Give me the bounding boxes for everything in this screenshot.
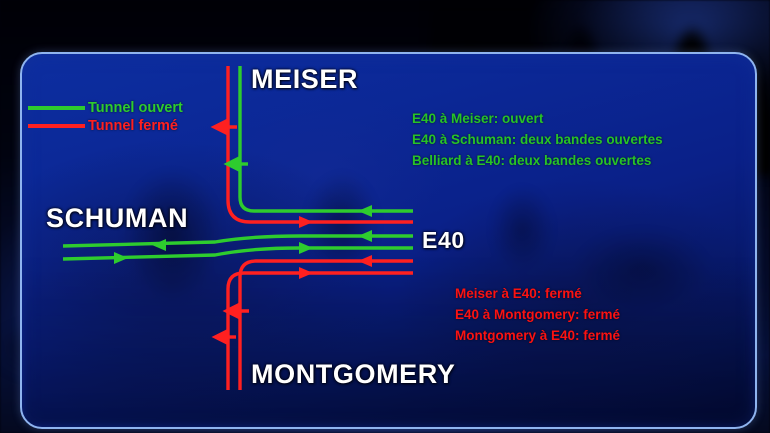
arrowhead-e40-to-montgomery xyxy=(358,255,372,267)
status-closed-line: Meiser à E40: fermé xyxy=(455,283,620,304)
status-open-line: Belliard à E40: deux bandes ouvertes xyxy=(412,150,663,171)
status-list-closed: Meiser à E40: fermé E40 à Montgomery: fe… xyxy=(455,283,620,346)
status-open-line: E40 à Schuman: deux bandes ouvertes xyxy=(412,129,663,150)
status-list-open: E40 à Meiser: ouvert E40 à Schuman: deux… xyxy=(412,108,663,171)
arrowhead-e40-to-meiser xyxy=(358,205,372,217)
route-e40-to-schuman-open xyxy=(63,236,413,246)
place-label-schuman: SCHUMAN xyxy=(46,203,188,234)
place-label-e40: E40 xyxy=(422,227,465,254)
arrowhead-e40-to-schuman xyxy=(358,230,372,242)
status-closed-line: E40 à Montgomery: fermé xyxy=(455,304,620,325)
arrowhead-schuman-to-e40-west xyxy=(114,252,128,264)
legend-closed-label: Tunnel fermé xyxy=(88,118,178,134)
status-open-line: E40 à Meiser: ouvert xyxy=(412,108,663,129)
arrowhead-e40-to-schuman-west xyxy=(152,239,166,251)
arrowhead-schuman-to-e40 xyxy=(299,242,313,254)
arrowhead-montgomery-to-e40 xyxy=(299,267,313,279)
place-label-meiser: MEISER xyxy=(251,64,358,95)
arrowhead-meiser-to-e40 xyxy=(299,216,313,228)
legend-swatches xyxy=(28,108,85,126)
place-label-montgomery: MONTGOMERY xyxy=(251,359,456,390)
legend-open-label: Tunnel ouvert xyxy=(88,100,183,116)
status-closed-line: Montgomery à E40: fermé xyxy=(455,325,620,346)
